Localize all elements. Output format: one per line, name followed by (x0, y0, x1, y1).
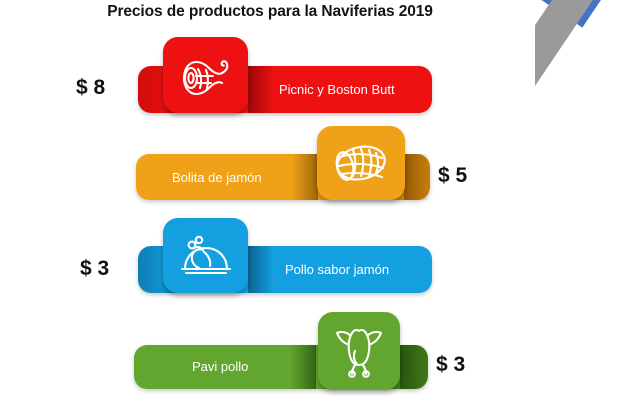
bar-label-3: Pollo sabor jamón (285, 262, 389, 277)
bar-label-2: Bolita de jamón (172, 170, 262, 185)
page-title: Precios de productos para la Naviferias … (0, 3, 540, 21)
corner-decoration (535, 0, 630, 110)
bar-label-1: Picnic y Boston Butt (279, 82, 395, 97)
ham-leg-icon (178, 50, 234, 100)
price-label-1: $ 8 (76, 76, 105, 100)
ham-roll-icon-tile (317, 126, 405, 200)
infographic-canvas: Precios de productos para la Naviferias … (0, 0, 630, 400)
ham-roll-icon (331, 139, 391, 187)
price-label-3: $ 3 (80, 257, 109, 281)
roast-chicken-icon-tile (163, 218, 248, 293)
roast-chicken-icon (177, 231, 235, 281)
bar-label-4: Pavi pollo (192, 359, 248, 374)
corner-gray-stripe (535, 0, 624, 95)
ham-leg-icon-tile (163, 37, 248, 113)
price-label-2: $ 5 (438, 164, 467, 188)
price-label-4: $ 3 (436, 353, 465, 377)
turkey-icon (330, 323, 388, 379)
turkey-icon-tile (318, 312, 400, 390)
corner-blue-stripe (535, 0, 630, 28)
